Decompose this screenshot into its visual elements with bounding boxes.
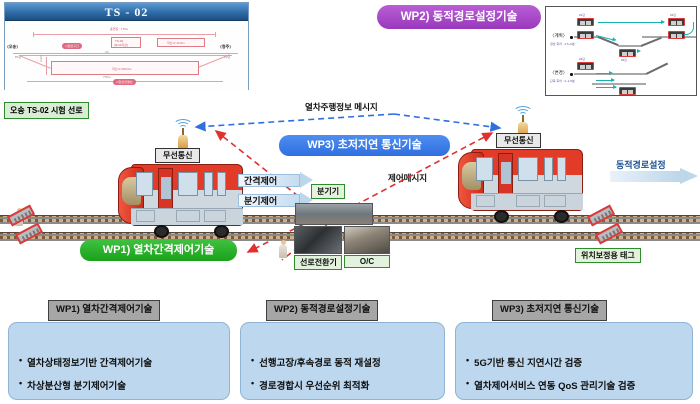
wp2-change-label: 〈변경〉 (550, 70, 567, 76)
bullet-icon: • (466, 355, 469, 366)
ts02-track-drawing: 총연장 : 770m TS-02 (Ro/2지선) 직선 R 40.0m 시험선… (5, 21, 248, 90)
wp2-signal-4 (668, 31, 685, 39)
wp2-signal-7 (619, 87, 636, 95)
ts02-rail-upper (13, 53, 238, 54)
wp3-item-list: •5G기반 통신 지연시간 검증 •열차제어서비스 연동 QoS 관리기술 검증 (466, 355, 635, 401)
wp2-plan-dot (570, 36, 573, 39)
ts02-dim-tick-right (215, 32, 216, 37)
wp2-signal-3 (668, 18, 685, 26)
main-scene: 열차주행정보 메시지 제어메시지 WP3) 초저지연 통신기술 (0, 100, 700, 295)
wp1-summary-box: •열차상태정보기반 간격제어기술 •차상분산형 분기제어기술 (8, 322, 230, 400)
antenna-right (505, 106, 541, 136)
wp2-item-1-text: 선행고장/후속경로 동적 재설정 (259, 355, 381, 369)
wp2-plan-label: 〈계획〉 (550, 33, 567, 39)
wp2-change-diag (646, 63, 668, 75)
ts02-tag-upper: 시험선구간 (62, 43, 82, 49)
ts02-end-right: ⟨청주⟩ (220, 44, 231, 50)
wp2-flow-arrow-1 (598, 22, 664, 23)
ts02-panel: TS - 02 총연장 : 770m TS-02 (Ro/2지선) 직선 R 4… (4, 2, 249, 90)
wp3-summary-header: WP3) 초저지연 통신기술 (492, 300, 607, 321)
wp2-summary-header: WP2) 동적경로설정기술 (266, 300, 378, 321)
wp1-item-1-text: 열차상태정보기반 간격제어기술 (27, 355, 152, 369)
arrow-dynamic-route-label: 동적경로설정 (616, 158, 666, 171)
wp2-signal-5 (619, 49, 636, 57)
worker-figure-center (278, 240, 288, 258)
wp2-change-arrow-1 (596, 73, 612, 74)
ts02-center-box: TS-02 (Ro/2지선) (111, 37, 141, 48)
diagram-canvas: TS - 02 총연장 : 770m TS-02 (Ro/2지선) 직선 R 4… (0, 0, 700, 404)
wp2-item-list: •선행고장/후속경로 동적 재설정 •경로경합시 우선순위 최적화 (251, 355, 381, 401)
train-right (458, 149, 586, 223)
wp2-plan-diag-2 (641, 37, 662, 47)
wp2-change-arrow-3 (596, 87, 616, 88)
antenna-left (165, 119, 201, 149)
wp2-signal-1 (577, 18, 594, 26)
ts02-end-left: ⟨오송⟩ (7, 44, 18, 50)
wp2-badge-top: WP2) 동적경로설정기술 (377, 5, 541, 29)
wp2-route-diagram: 〈계획〉 정상 회차 : 4.5~5분 #1단 #4단 #3단 〈변경〉 단축 … (545, 6, 697, 96)
ts02-dim-line-top (33, 34, 215, 35)
ts02-taper-right (198, 54, 230, 68)
arrow-msg-to-left-train (196, 114, 394, 127)
photo-switch-machine (294, 226, 342, 254)
bullet-icon: • (251, 378, 254, 389)
ts02-tag-lower: 시험선연결선 (113, 79, 136, 85)
train-left (118, 164, 246, 238)
photo-label-oc: O/C (344, 255, 390, 268)
wp2-change-arrow-2 (596, 80, 614, 81)
photo-track-switch-field (295, 203, 373, 225)
wp1-item-2: •차상분산형 분기제어기술 (19, 378, 152, 392)
wp2-item-1: •선행고장/후속경로 동적 재설정 (251, 355, 381, 369)
wp1-badge-scene: WP1) 열차간격제어기술 (80, 240, 237, 261)
radio-label-right: 무선통신 (496, 133, 541, 148)
ts02-dim-tick-left (33, 32, 34, 37)
wp2-item-2-text: 경로경합시 우선순위 최적화 (259, 378, 369, 392)
wp2-signal-2 (577, 31, 594, 39)
wp3-badge-scene: WP3) 초저지연 통신기술 (279, 135, 450, 156)
wp2-plan-line-c (618, 45, 642, 47)
ts02-main-box: 직선 R 290.0m (51, 61, 199, 75)
wp3-item-1: •5G기반 통신 지연시간 검증 (466, 355, 635, 369)
wp1-item-2-text: 차상분산형 분기제어기술 (27, 378, 126, 392)
wp1-summary-header: WP1) 열차간격제어기술 (48, 300, 160, 321)
wp1-item-1: •열차상태정보기반 간격제어기술 (19, 355, 152, 369)
photo-label-switch: 선로전환기 (294, 255, 342, 270)
wp3-item-1-text: 5G기반 통신 지연시간 검증 (474, 355, 582, 369)
arrow-msg-to-right-train (394, 114, 500, 128)
radio-label-left: 무선통신 (155, 148, 200, 163)
photo-object-controller (344, 226, 390, 254)
ts02-right-box: 직선 R 40.0m (157, 38, 205, 47)
wp3-item-2-text: 열차제어서비스 연동 QoS 관리기술 검증 (474, 378, 635, 392)
ts02-dim-height: 3.3m (39, 55, 43, 62)
wp2-item-2: •경로경합시 우선순위 최적화 (251, 378, 381, 392)
bullet-icon: • (19, 355, 22, 366)
wp2-plan-note: 정상 회차 : 4.5~5분 (550, 42, 575, 46)
bottom-summary-row: •열차상태정보기반 간격제어기술 •차상분산형 분기제어기술 WP1) 열차간격… (0, 300, 700, 404)
tag-label: 위치보정용 태그 (575, 248, 641, 263)
wp3-item-2: •열차제어서비스 연동 QoS 관리기술 검증 (466, 378, 635, 392)
wp2-change-dot (570, 73, 573, 76)
arrow-headway-control: 간격제어 (238, 172, 316, 189)
ts02-rail-upper2 (19, 55, 232, 56)
wp2-summary-box: •선행고장/후속경로 동적 재설정 •경로경합시 우선순위 최적화 (240, 322, 445, 400)
wp2-change-line-b (592, 83, 646, 85)
wp1-item-list: •열차상태정보기반 간격제어기술 •차상분산형 분기제어기술 (19, 355, 152, 401)
bullet-icon: • (19, 378, 22, 389)
ts02-dim-vertical (46, 57, 47, 75)
switch-label: 분기기 (311, 184, 345, 199)
ts02-total-length: 총연장 : 770m (110, 27, 128, 31)
wp2-change-note: 단축 회차 : 2~2.5분 (550, 79, 575, 83)
wp2-loop-curve (684, 22, 694, 35)
bullet-icon: • (466, 378, 469, 389)
ts02-title: TS - 02 (5, 3, 248, 21)
bullet-icon: • (251, 355, 254, 366)
wp2-signal-6 (577, 62, 594, 70)
wp3-summary-box: •5G기반 통신 지연시간 검증 •열차제어서비스 연동 QoS 관리기술 검증 (455, 322, 693, 400)
